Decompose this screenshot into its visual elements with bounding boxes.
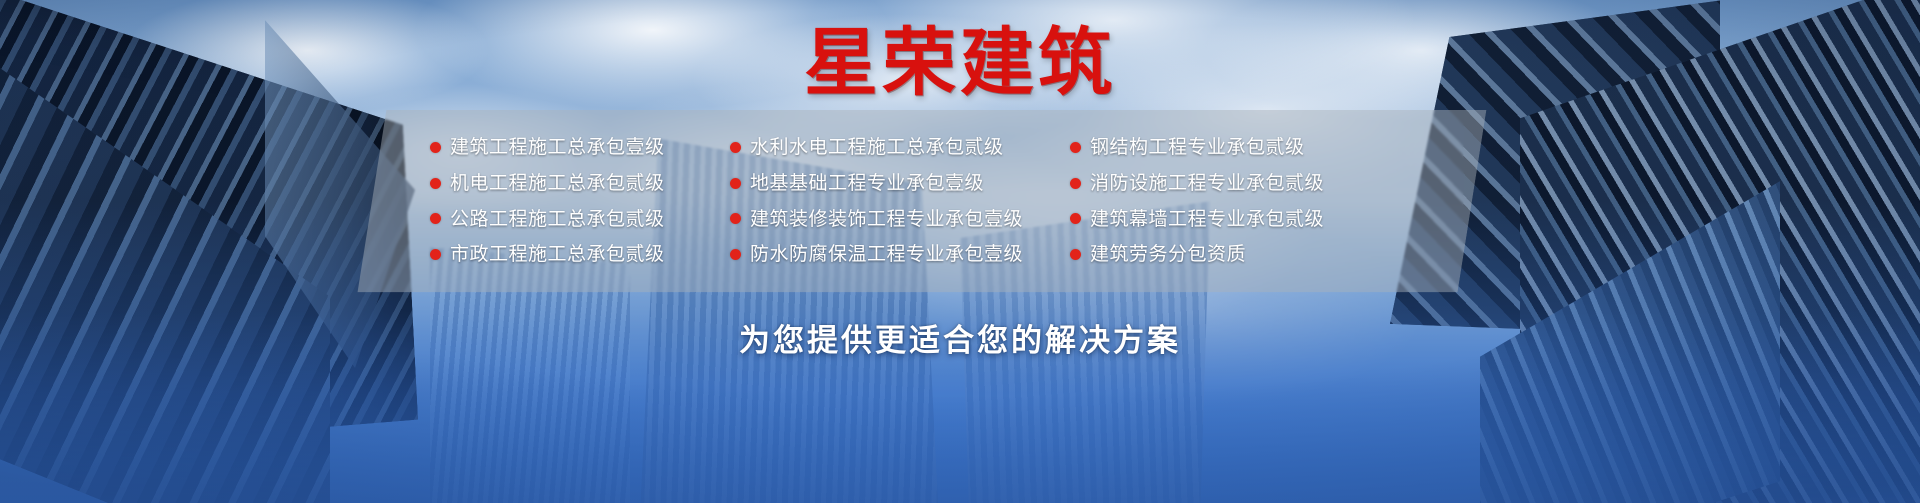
qualification-label: 建筑劳务分包资质: [1090, 244, 1246, 265]
list-item: 水利水电工程施工总承包贰级: [730, 137, 1070, 158]
company-title: 星荣建筑: [0, 26, 1920, 100]
red-dot-icon: [1070, 249, 1081, 260]
red-dot-icon: [430, 249, 441, 260]
qualification-label: 建筑工程施工总承包壹级: [450, 137, 665, 158]
list-item: 公路工程施工总承包贰级: [430, 209, 730, 230]
qualification-label: 建筑装修装饰工程专业承包壹级: [750, 209, 1023, 230]
list-item: 建筑劳务分包资质: [1070, 244, 1410, 265]
red-dot-icon: [430, 178, 441, 189]
red-dot-icon: [730, 213, 741, 224]
list-item: 建筑幕墙工程专业承包贰级: [1070, 209, 1410, 230]
qualification-list: 建筑工程施工总承包壹级 机电工程施工总承包贰级 公路工程施工总承包贰级 市政工程…: [430, 110, 1490, 292]
red-dot-icon: [730, 249, 741, 260]
list-item: 地基基础工程专业承包壹级: [730, 173, 1070, 194]
qualification-label: 地基基础工程专业承包壹级: [750, 173, 984, 194]
qualification-label: 机电工程施工总承包贰级: [450, 173, 665, 194]
list-item: 消防设施工程专业承包贰级: [1070, 173, 1410, 194]
red-dot-icon: [1070, 178, 1081, 189]
red-dot-icon: [730, 178, 741, 189]
qualification-column-1: 建筑工程施工总承包壹级 机电工程施工总承包贰级 公路工程施工总承包贰级 市政工程…: [430, 137, 730, 266]
qualification-label: 建筑幕墙工程专业承包贰级: [1090, 209, 1324, 230]
list-item: 机电工程施工总承包贰级: [430, 173, 730, 194]
qualification-label: 钢结构工程专业承包贰级: [1090, 137, 1305, 158]
red-dot-icon: [730, 142, 741, 153]
list-item: 建筑工程施工总承包壹级: [430, 137, 730, 158]
banner-tagline: 为您提供更适合您的解决方案: [0, 315, 1920, 360]
red-dot-icon: [1070, 142, 1081, 153]
qualification-label: 水利水电工程施工总承包贰级: [750, 137, 1004, 158]
qualification-label: 消防设施工程专业承包贰级: [1090, 173, 1324, 194]
list-item: 防水防腐保温工程专业承包壹级: [730, 244, 1070, 265]
list-item: 市政工程施工总承包贰级: [430, 244, 730, 265]
hero-banner: 星荣建筑 建筑工程施工总承包壹级 机电工程施工总承包贰级 公路工程施工总承包贰级…: [0, 0, 1920, 503]
red-dot-icon: [1070, 213, 1081, 224]
qualification-column-3: 钢结构工程专业承包贰级 消防设施工程专业承包贰级 建筑幕墙工程专业承包贰级 建筑…: [1070, 137, 1410, 266]
qualification-label: 防水防腐保温工程专业承包壹级: [750, 244, 1023, 265]
list-item: 建筑装修装饰工程专业承包壹级: [730, 209, 1070, 230]
list-item: 钢结构工程专业承包贰级: [1070, 137, 1410, 158]
red-dot-icon: [430, 142, 441, 153]
qualification-column-2: 水利水电工程施工总承包贰级 地基基础工程专业承包壹级 建筑装修装饰工程专业承包壹…: [730, 137, 1070, 266]
red-dot-icon: [430, 213, 441, 224]
qualification-label: 公路工程施工总承包贰级: [450, 209, 665, 230]
qualification-label: 市政工程施工总承包贰级: [450, 244, 665, 265]
